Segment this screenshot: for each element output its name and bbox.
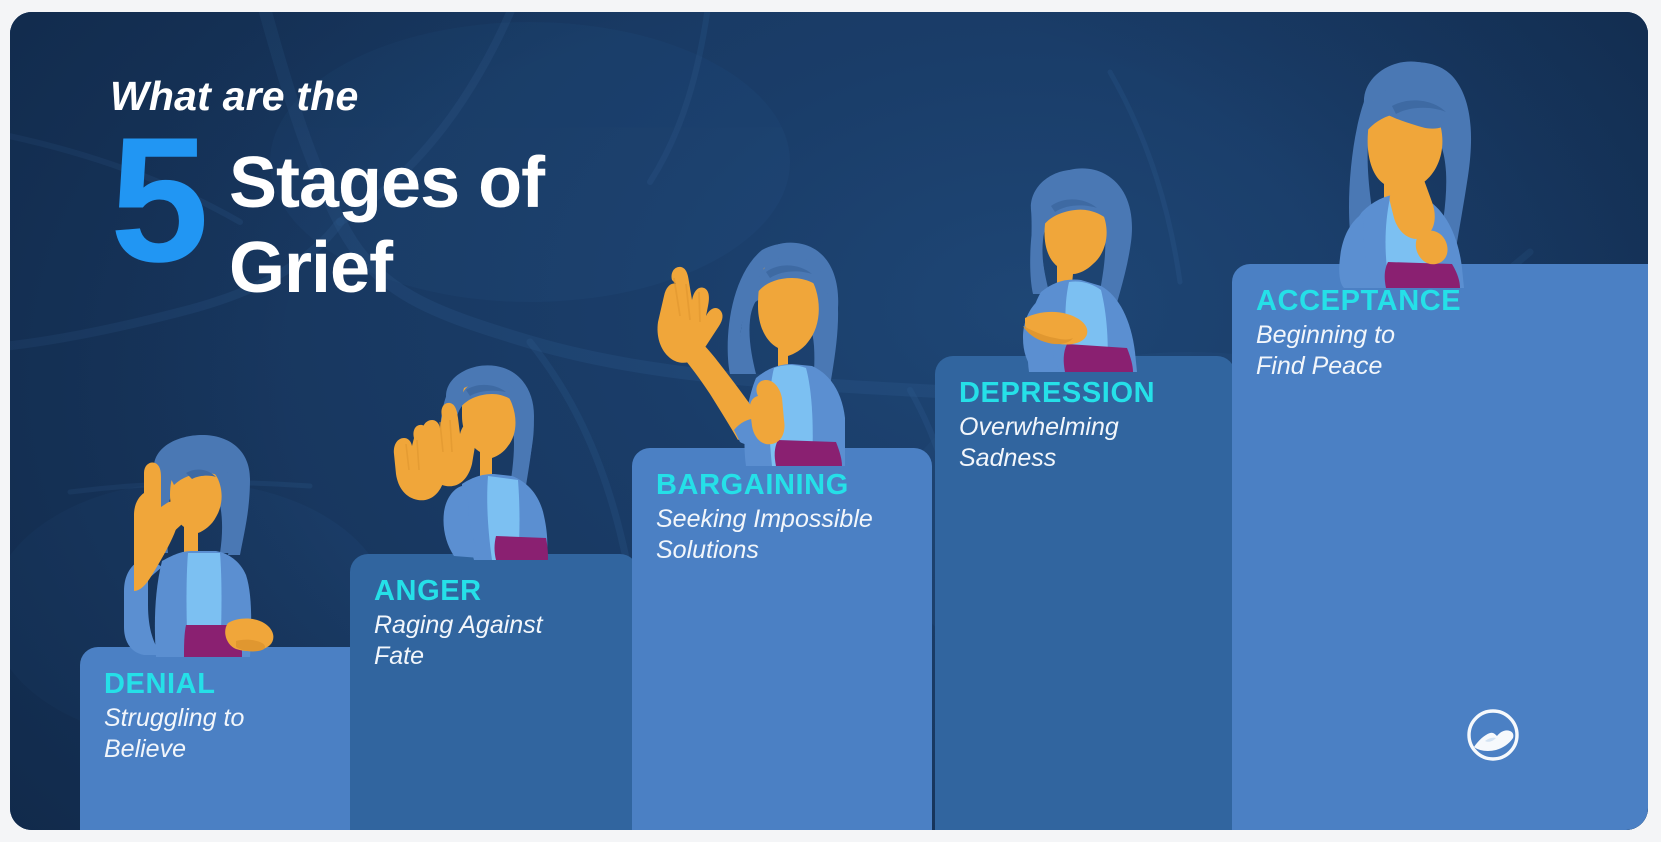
step-title-depression: DEPRESSION <box>959 378 1225 408</box>
step-desc-line-1: Overwhelming <box>959 412 1225 443</box>
figure-bargaining <box>650 234 845 466</box>
step-desc-line-1: Struggling to <box>104 703 358 734</box>
title-line-2: Grief <box>229 226 544 311</box>
page-title: What are the 5 Stages of Grief <box>110 76 544 311</box>
step-desc-acceptance: Beginning to Find Peace <box>1256 320 1638 381</box>
title-line-1: Stages of <box>229 141 544 226</box>
step-desc-line-2: Sadness <box>959 443 1225 474</box>
title-number-5: 5 <box>110 123 203 276</box>
step-desc-line-2: Solutions <box>656 535 922 566</box>
step-title-acceptance: ACCEPTANCE <box>1256 286 1638 316</box>
step-text-acceptance: ACCEPTANCE Beginning to Find Peace <box>1256 286 1638 381</box>
step-text-bargaining: BARGAINING Seeking Impossible Solutions <box>656 470 922 565</box>
step-block-acceptance[interactable]: ACCEPTANCE Beginning to Find Peace <box>1232 264 1648 830</box>
step-block-anger[interactable]: ANGER Raging Against Fate <box>350 554 638 830</box>
step-block-denial[interactable]: DENIAL Struggling to Believe <box>80 647 368 830</box>
step-desc-line-2: Find Peace <box>1256 351 1638 382</box>
step-text-denial: DENIAL Struggling to Believe <box>104 669 358 764</box>
figure-depression <box>995 162 1155 372</box>
step-desc-denial: Struggling to Believe <box>104 703 358 764</box>
infographic-canvas: What are the 5 Stages of Grief DENIAL St… <box>10 12 1648 830</box>
figure-denial <box>88 427 288 657</box>
step-desc-line-1: Raging Against <box>374 610 628 641</box>
step-text-depression: DEPRESSION Overwhelming Sadness <box>959 378 1225 473</box>
title-words: Stages of Grief <box>229 131 544 311</box>
step-desc-line-2: Fate <box>374 641 628 672</box>
step-title-denial: DENIAL <box>104 669 358 699</box>
step-desc-line-2: Believe <box>104 734 358 765</box>
title-row: 5 Stages of Grief <box>110 131 544 311</box>
figure-anger <box>388 360 563 560</box>
step-desc-line-1: Seeking Impossible <box>656 504 922 535</box>
step-title-anger: ANGER <box>374 576 628 606</box>
step-title-bargaining: BARGAINING <box>656 470 922 500</box>
step-desc-depression: Overwhelming Sadness <box>959 412 1225 473</box>
mountain-circle-logo[interactable] <box>1465 707 1521 763</box>
step-block-depression[interactable]: DEPRESSION Overwhelming Sadness <box>935 356 1235 830</box>
step-desc-bargaining: Seeking Impossible Solutions <box>656 504 922 565</box>
step-block-bargaining[interactable]: BARGAINING Seeking Impossible Solutions <box>632 448 932 830</box>
step-text-anger: ANGER Raging Against Fate <box>374 576 628 671</box>
figure-acceptance <box>1290 56 1480 288</box>
step-desc-line-1: Beginning to <box>1256 320 1638 351</box>
step-desc-anger: Raging Against Fate <box>374 610 628 671</box>
